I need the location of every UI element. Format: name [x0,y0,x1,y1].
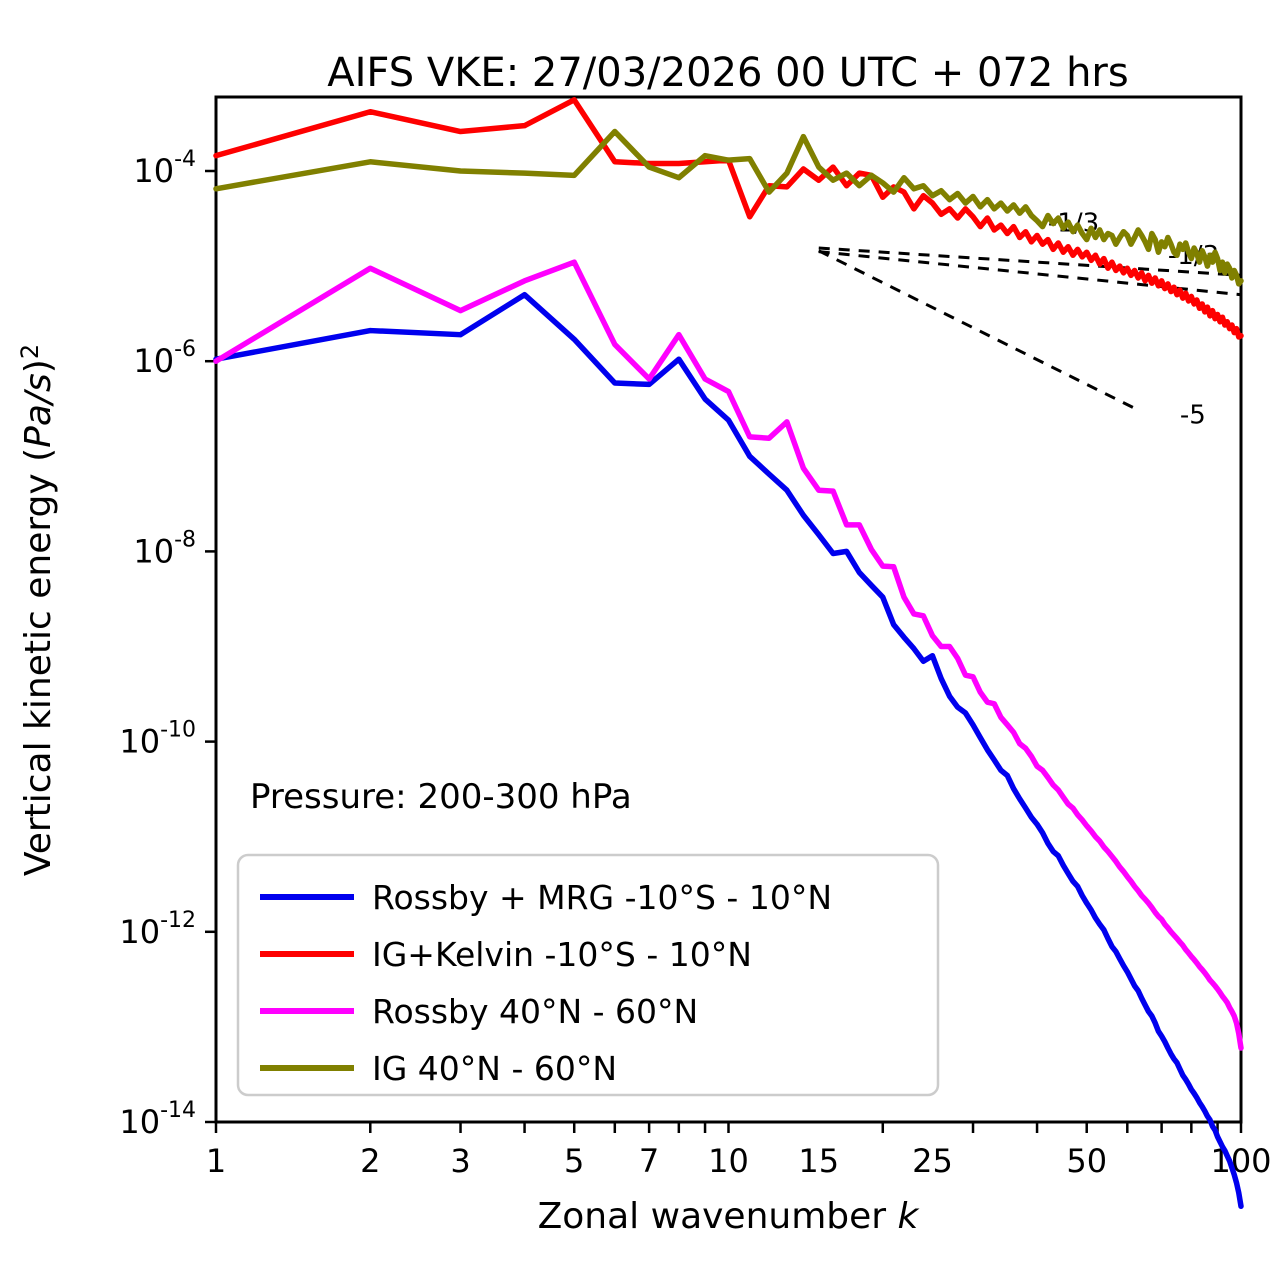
x-tick-label: 1 [206,1142,226,1180]
x-tick-label: 10 [708,1142,749,1180]
x-tick-label: 2 [360,1142,380,1180]
reference-slope-lines [819,248,1241,408]
x-tick-label: 7 [639,1142,659,1180]
y-tick-label: 10-14 [119,1098,196,1141]
y-axis-title-sup: 2 [16,344,44,359]
y-tick-label: 10-12 [119,908,196,951]
x-tick-label: 25 [912,1142,953,1180]
x-tick-label: 50 [1066,1142,1107,1180]
x-tick-label: 100 [1210,1142,1271,1180]
x-tick-labels: 1235710152550100 [206,1142,1272,1180]
figure-canvas: AIFS VKE: 27/03/2026 00 UTC + 072 hrs 10… [0,0,1280,1288]
y-tick-label: 10-10 [119,718,196,761]
y-axis-title-italic: Pa/s [18,373,59,448]
chart-legend[interactable]: Rossby + MRG -10°S - 10°NIG+Kelvin -10°S… [238,855,938,1095]
y-axis-title: Vertical kinetic energy (Pa/s)2 [16,344,59,876]
legend-label[interactable]: Rossby + MRG -10°S - 10°N [372,878,832,917]
legend-label[interactable]: IG 40°N - 60°N [372,1049,617,1088]
chart-title: AIFS VKE: 27/03/2026 00 UTC + 072 hrs [327,50,1128,96]
pressure-annotation: Pressure: 200-300 hPa [250,777,632,817]
x-tick-label: 15 [798,1142,839,1180]
y-tick-label: 10-8 [133,527,196,570]
x-axis-title: Zonal wavenumber k [538,1196,921,1237]
legend-label[interactable]: Rossby 40°N - 60°N [372,992,698,1031]
x-tick-label: 3 [450,1142,470,1180]
y-tick-label: 10-4 [133,147,196,190]
slope-label: -5 [1180,401,1206,431]
x-axis-title-main: Zonal wavenumber [538,1196,898,1237]
reference-line--5 [819,251,1135,409]
y-axis-title-tail: ) [18,359,59,373]
y-axis-title-main: Vertical kinetic energy ( [18,448,59,876]
y-tick-labels: 10-410-610-810-1010-1210-14 [119,147,196,1141]
y-tick-label: 10-6 [133,337,196,380]
x-axis-title-italic: k [898,1196,921,1237]
vke-spectrum-chart: AIFS VKE: 27/03/2026 00 UTC + 072 hrs 10… [0,0,1280,1288]
x-tick-label: 5 [564,1142,584,1180]
legend-label[interactable]: IG+Kelvin -10°S - 10°N [372,935,752,974]
